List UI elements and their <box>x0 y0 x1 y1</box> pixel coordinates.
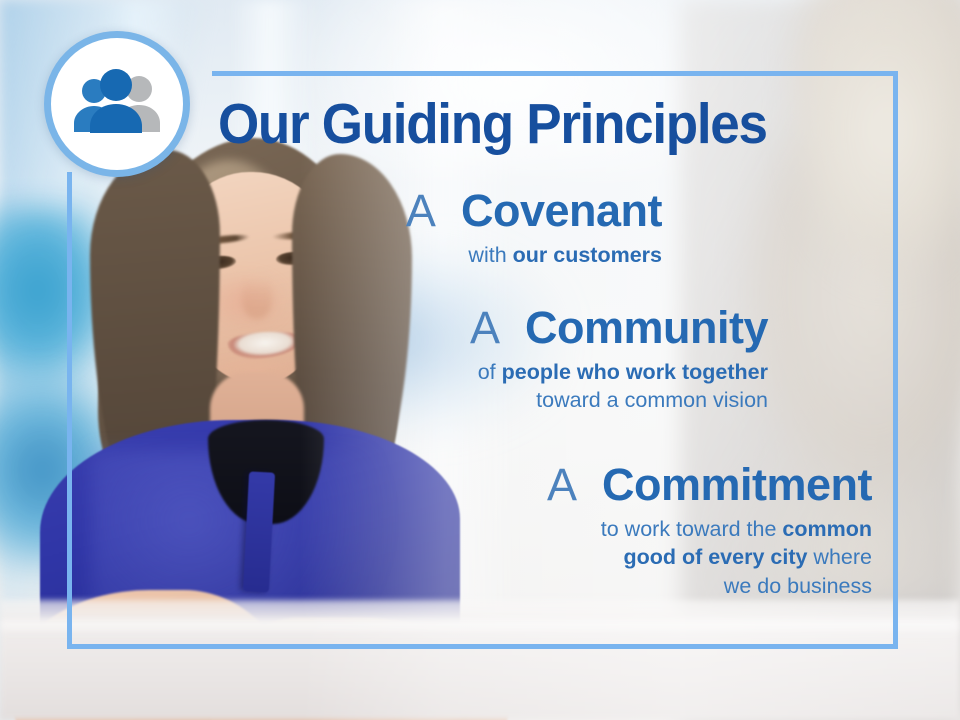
principle-community-heading: A Community <box>258 305 768 351</box>
principle-community: A Community of people who work togethert… <box>258 305 768 415</box>
frame-border-top <box>212 71 898 76</box>
frame-border-left <box>67 172 72 649</box>
principle-commitment: A Commitment to work toward the commongo… <box>258 462 872 601</box>
principle-covenant-heading: A Covenant <box>258 188 662 234</box>
principle-commitment-lead: A <box>547 459 590 510</box>
principle-commitment-heading: A Commitment <box>258 462 872 508</box>
principle-community-subtitle: of people who work togethertoward a comm… <box>258 358 768 415</box>
page-title: Our Guiding Principles <box>218 96 832 153</box>
principle-covenant: A Covenant with our customers <box>258 188 662 269</box>
principle-covenant-keyword: Covenant <box>461 185 662 236</box>
principle-commitment-subtitle: to work toward the commongood of every c… <box>258 515 872 601</box>
guiding-principles-banner: FLOW FLOW AUTOMOTIVE <box>0 0 960 720</box>
people-group-icon <box>69 69 165 139</box>
people-group-icon-badge <box>44 31 190 177</box>
principle-covenant-lead: A <box>406 185 449 236</box>
frame-border-right <box>893 71 898 649</box>
principle-covenant-subtitle: with our customers <box>258 241 662 270</box>
principle-community-keyword: Community <box>525 302 768 353</box>
principle-community-lead: A <box>470 302 513 353</box>
frame-border-bottom <box>67 644 898 649</box>
principle-commitment-keyword: Commitment <box>602 459 872 510</box>
